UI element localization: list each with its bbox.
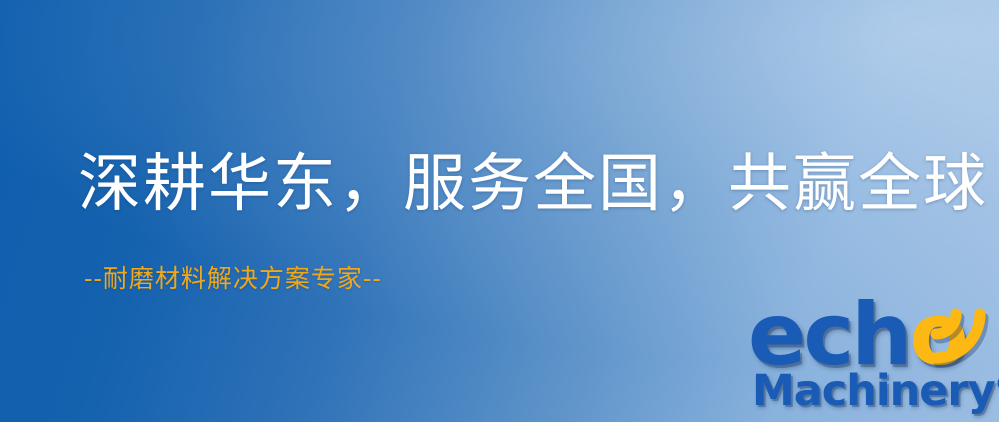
signal-arcs-icon [928,290,999,368]
echo-machinery-logo[interactable]: echo Machinery® [748,292,999,422]
promo-banner: 深耕华东，服务全国，共赢全球 --耐磨材料解决方案专家-- echo Machi… [0,0,999,422]
logo-company-name-text: Machinery [752,366,995,416]
banner-content: 深耕华东，服务全国，共赢全球 --耐磨材料解决方案专家-- echo Machi… [0,0,999,422]
banner-subtitle: --耐磨材料解决方案专家-- [84,266,382,291]
registered-trademark-icon: ® [995,372,999,396]
banner-headline: 深耕华东，服务全国，共赢全球 [78,152,988,215]
logo-company-name: Machinery® [752,370,999,413]
